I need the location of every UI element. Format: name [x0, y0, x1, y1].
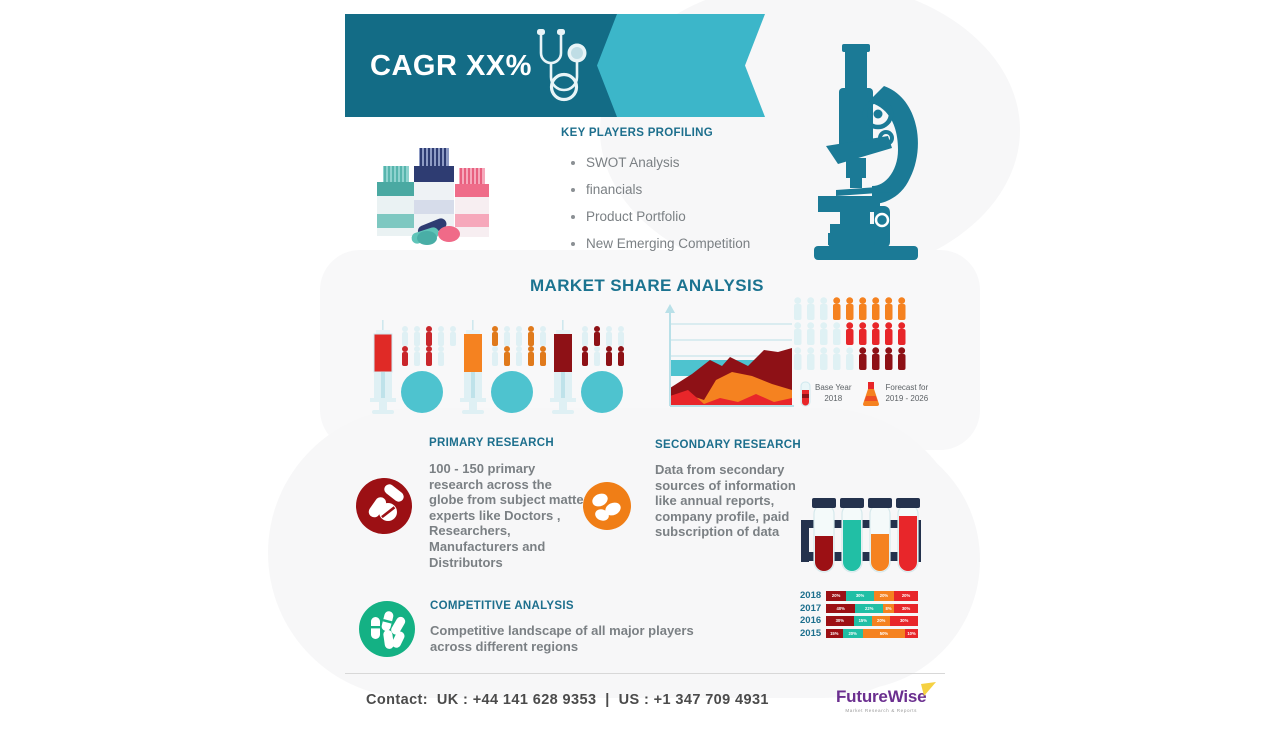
- primary-research-title: PRIMARY RESEARCH: [429, 437, 554, 449]
- cagr-label: CAGR XX%: [370, 50, 532, 83]
- capsules-circle-icon: [358, 600, 416, 658]
- yearly-share-table: 2018 20% 30% 20% 20% 2017 40% 22% 8% 30%…: [800, 590, 918, 640]
- legend-line-1: Base Year: [815, 383, 851, 394]
- list-item: financials: [571, 176, 750, 203]
- row-year: 2018: [800, 590, 826, 601]
- bar-segment: 22%: [855, 604, 883, 614]
- competitive-analysis-title: COMPETITIVE ANALYSIS: [430, 600, 574, 612]
- futurewise-logo: FutureWise Market Research & Reports: [836, 687, 926, 713]
- key-players-title: KEY PLAYERS PROFILING: [561, 127, 713, 139]
- cagr-banner: CAGR XX%: [345, 14, 765, 117]
- row-year: 2016: [800, 615, 826, 626]
- bar-segment: 20%: [843, 629, 863, 639]
- bullet-icon: [571, 242, 575, 246]
- legend-item-forecast: Forecast for 2019 - 2026: [861, 381, 928, 407]
- list-item-label: Product Portfolio: [586, 209, 686, 224]
- logo-tagline: Market Research & Reports: [836, 708, 926, 713]
- logo-swoosh-icon: [921, 682, 937, 698]
- list-item: New Emerging Competition: [571, 230, 750, 257]
- pills-circle-icon: [355, 477, 413, 535]
- bar-segment: 20%: [874, 591, 894, 601]
- pills-circle-icon: [583, 482, 631, 530]
- bar-segment: 50%: [863, 629, 905, 639]
- bar-segment: 8%: [883, 604, 894, 614]
- market-area-chart: [652, 302, 800, 414]
- bar-segment: 15%: [826, 629, 843, 639]
- bar-segment: 20%: [894, 591, 918, 601]
- row-bar: 20% 30% 20% 20%: [826, 591, 918, 601]
- flask-icon: [861, 381, 881, 407]
- bullet-icon: [571, 215, 575, 219]
- contact-us: US : +1 347 709 4931: [619, 692, 769, 708]
- table-row: 2016 30% 15% 20% 30%: [800, 615, 918, 627]
- list-item-label: New Emerging Competition: [586, 236, 750, 251]
- legend-item-base-year: Base Year 2018: [800, 381, 851, 407]
- legend-base-year-text: Base Year 2018: [815, 383, 851, 405]
- contact-separator: |: [605, 692, 609, 708]
- pill-bottles-icon: [373, 138, 491, 250]
- legend-line-1: Forecast for: [885, 383, 928, 394]
- row-bar: 15% 20% 50% 10%: [826, 629, 918, 639]
- bar-segment: 30%: [890, 616, 918, 626]
- test-tube-icon: [800, 381, 811, 407]
- row-bar: 40% 22% 8% 30%: [826, 604, 918, 614]
- microscope-icon: [806, 18, 936, 263]
- primary-research-body: 100 - 150 primary research across the gl…: [429, 461, 589, 570]
- contact-line: Contact: UK : +44 141 628 9353 | US : +1…: [366, 692, 769, 708]
- legend-line-2: 2018: [815, 394, 851, 405]
- footer-divider: [345, 673, 945, 674]
- row-year: 2017: [800, 603, 826, 614]
- infographic-page: CAGR XX% KEY PLAYERS PROFILING SWOT Anal…: [0, 0, 1280, 731]
- table-row: 2017 40% 22% 8% 30%: [800, 603, 918, 615]
- list-item-label: financials: [586, 182, 642, 197]
- bar-segment: 20%: [872, 616, 890, 626]
- competitive-analysis-body: Competitive landscape of all major playe…: [430, 623, 720, 654]
- bar-segment: 30%: [846, 591, 874, 601]
- row-bar: 30% 15% 20% 30%: [826, 616, 918, 626]
- bar-segment: 20%: [826, 591, 846, 601]
- legend-forecast-text: Forecast for 2019 - 2026: [885, 383, 928, 405]
- bar-segment: 40%: [826, 604, 855, 614]
- syringes-pictogram: [360, 318, 650, 418]
- secondary-research-title: SECONDARY RESEARCH: [655, 439, 801, 451]
- contact-label: Contact:: [366, 692, 428, 708]
- row-year: 2015: [800, 628, 826, 639]
- table-row: 2018 20% 30% 20% 20%: [800, 590, 918, 602]
- bar-segment: 15%: [854, 616, 872, 626]
- list-item: Product Portfolio: [571, 203, 750, 230]
- test-tubes-rack-icon: [797, 492, 927, 580]
- list-item: SWOT Analysis: [571, 149, 750, 176]
- bullet-icon: [571, 161, 575, 165]
- bullet-icon: [571, 188, 575, 192]
- market-share-title: MARKET SHARE ANALYSIS: [530, 276, 764, 296]
- people-pictogram: [792, 297, 914, 375]
- contact-uk: UK : +44 141 628 9353: [437, 692, 597, 708]
- secondary-research-body: Data from secondary sources of informati…: [655, 462, 805, 540]
- stethoscope-icon: [531, 27, 599, 105]
- bar-segment: 10%: [905, 629, 918, 639]
- table-row: 2015 15% 20% 50% 10%: [800, 628, 918, 640]
- legend-line-2: 2019 - 2026: [885, 394, 928, 405]
- logo-future-text: Future: [836, 687, 888, 706]
- list-item-label: SWOT Analysis: [586, 155, 680, 170]
- chart-legend: Base Year 2018 Forecast for 2019 - 2026: [800, 381, 928, 407]
- key-players-list: SWOT Analysis financials Product Portfol…: [571, 149, 750, 257]
- bar-segment: 30%: [894, 604, 918, 614]
- bar-segment: 30%: [826, 616, 854, 626]
